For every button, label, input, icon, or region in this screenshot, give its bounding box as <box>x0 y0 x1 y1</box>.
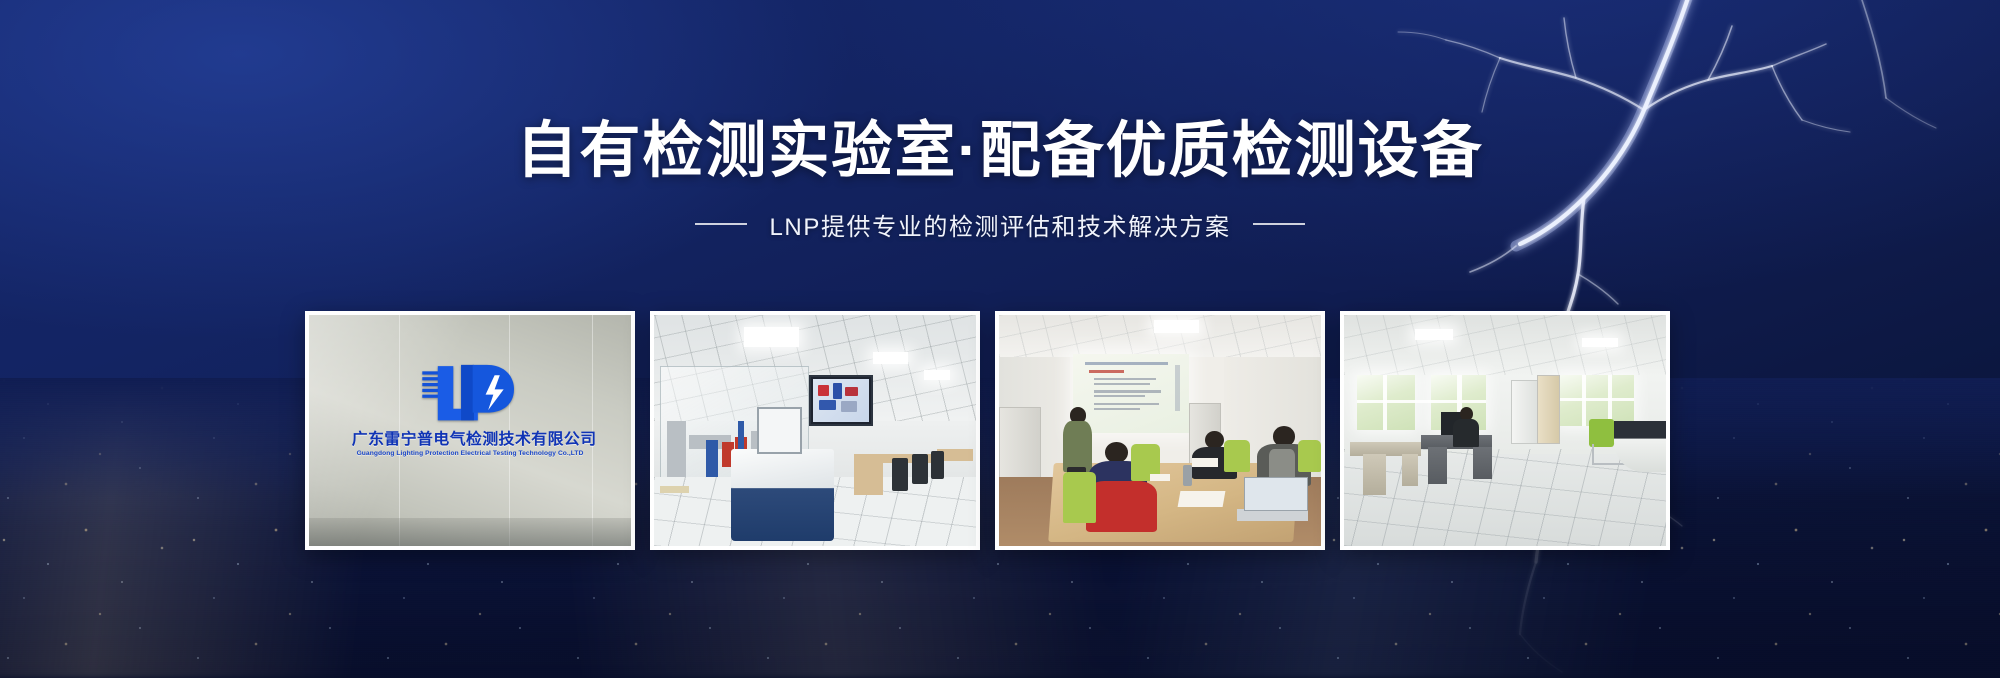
photo-training-meeting-room <box>999 315 1321 546</box>
page-subtitle: LNP提供专业的检测评估和技术解决方案 <box>769 207 1230 242</box>
gallery-card-2[interactable] <box>650 311 980 550</box>
wall-display <box>809 375 873 426</box>
photo-testing-laboratory <box>654 315 976 546</box>
left-rule-divider <box>695 223 747 225</box>
gallery-card-1[interactable]: 广东雷宁普电气检测技术有限公司 Guangdong Lighting Prote… <box>305 311 635 550</box>
photo-office-area <box>1344 315 1666 546</box>
gallery-card-4[interactable] <box>1340 311 1670 550</box>
gallery-card-3[interactable] <box>995 311 1325 550</box>
projector-screen <box>1073 354 1189 433</box>
company-name-cn: 广东雷宁普电气检测技术有限公司 <box>352 427 588 449</box>
company-name-en: Guangdong Lighting Protection Electrical… <box>354 450 586 457</box>
subtitle-row: LNP提供专业的检测评估和技术解决方案 <box>0 207 2000 242</box>
hero-banner: 自有检测实验室·配备优质检测设备 LNP提供专业的检测评估和技术解决方案 <box>0 0 2000 678</box>
page-title: 自有检测实验室·配备优质检测设备 <box>0 118 2000 183</box>
photo-lnp-signage-wall: 广东雷宁普电气检测技术有限公司 Guangdong Lighting Prote… <box>309 315 631 546</box>
banner-text-block: 自有检测实验室·配备优质检测设备 LNP提供专业的检测评估和技术解决方案 <box>0 118 2000 242</box>
right-rule-divider <box>1253 223 1305 225</box>
lnp-logo-icon <box>418 361 522 423</box>
photo-gallery: 广东雷宁普电气检测技术有限公司 Guangdong Lighting Prote… <box>305 311 1700 550</box>
